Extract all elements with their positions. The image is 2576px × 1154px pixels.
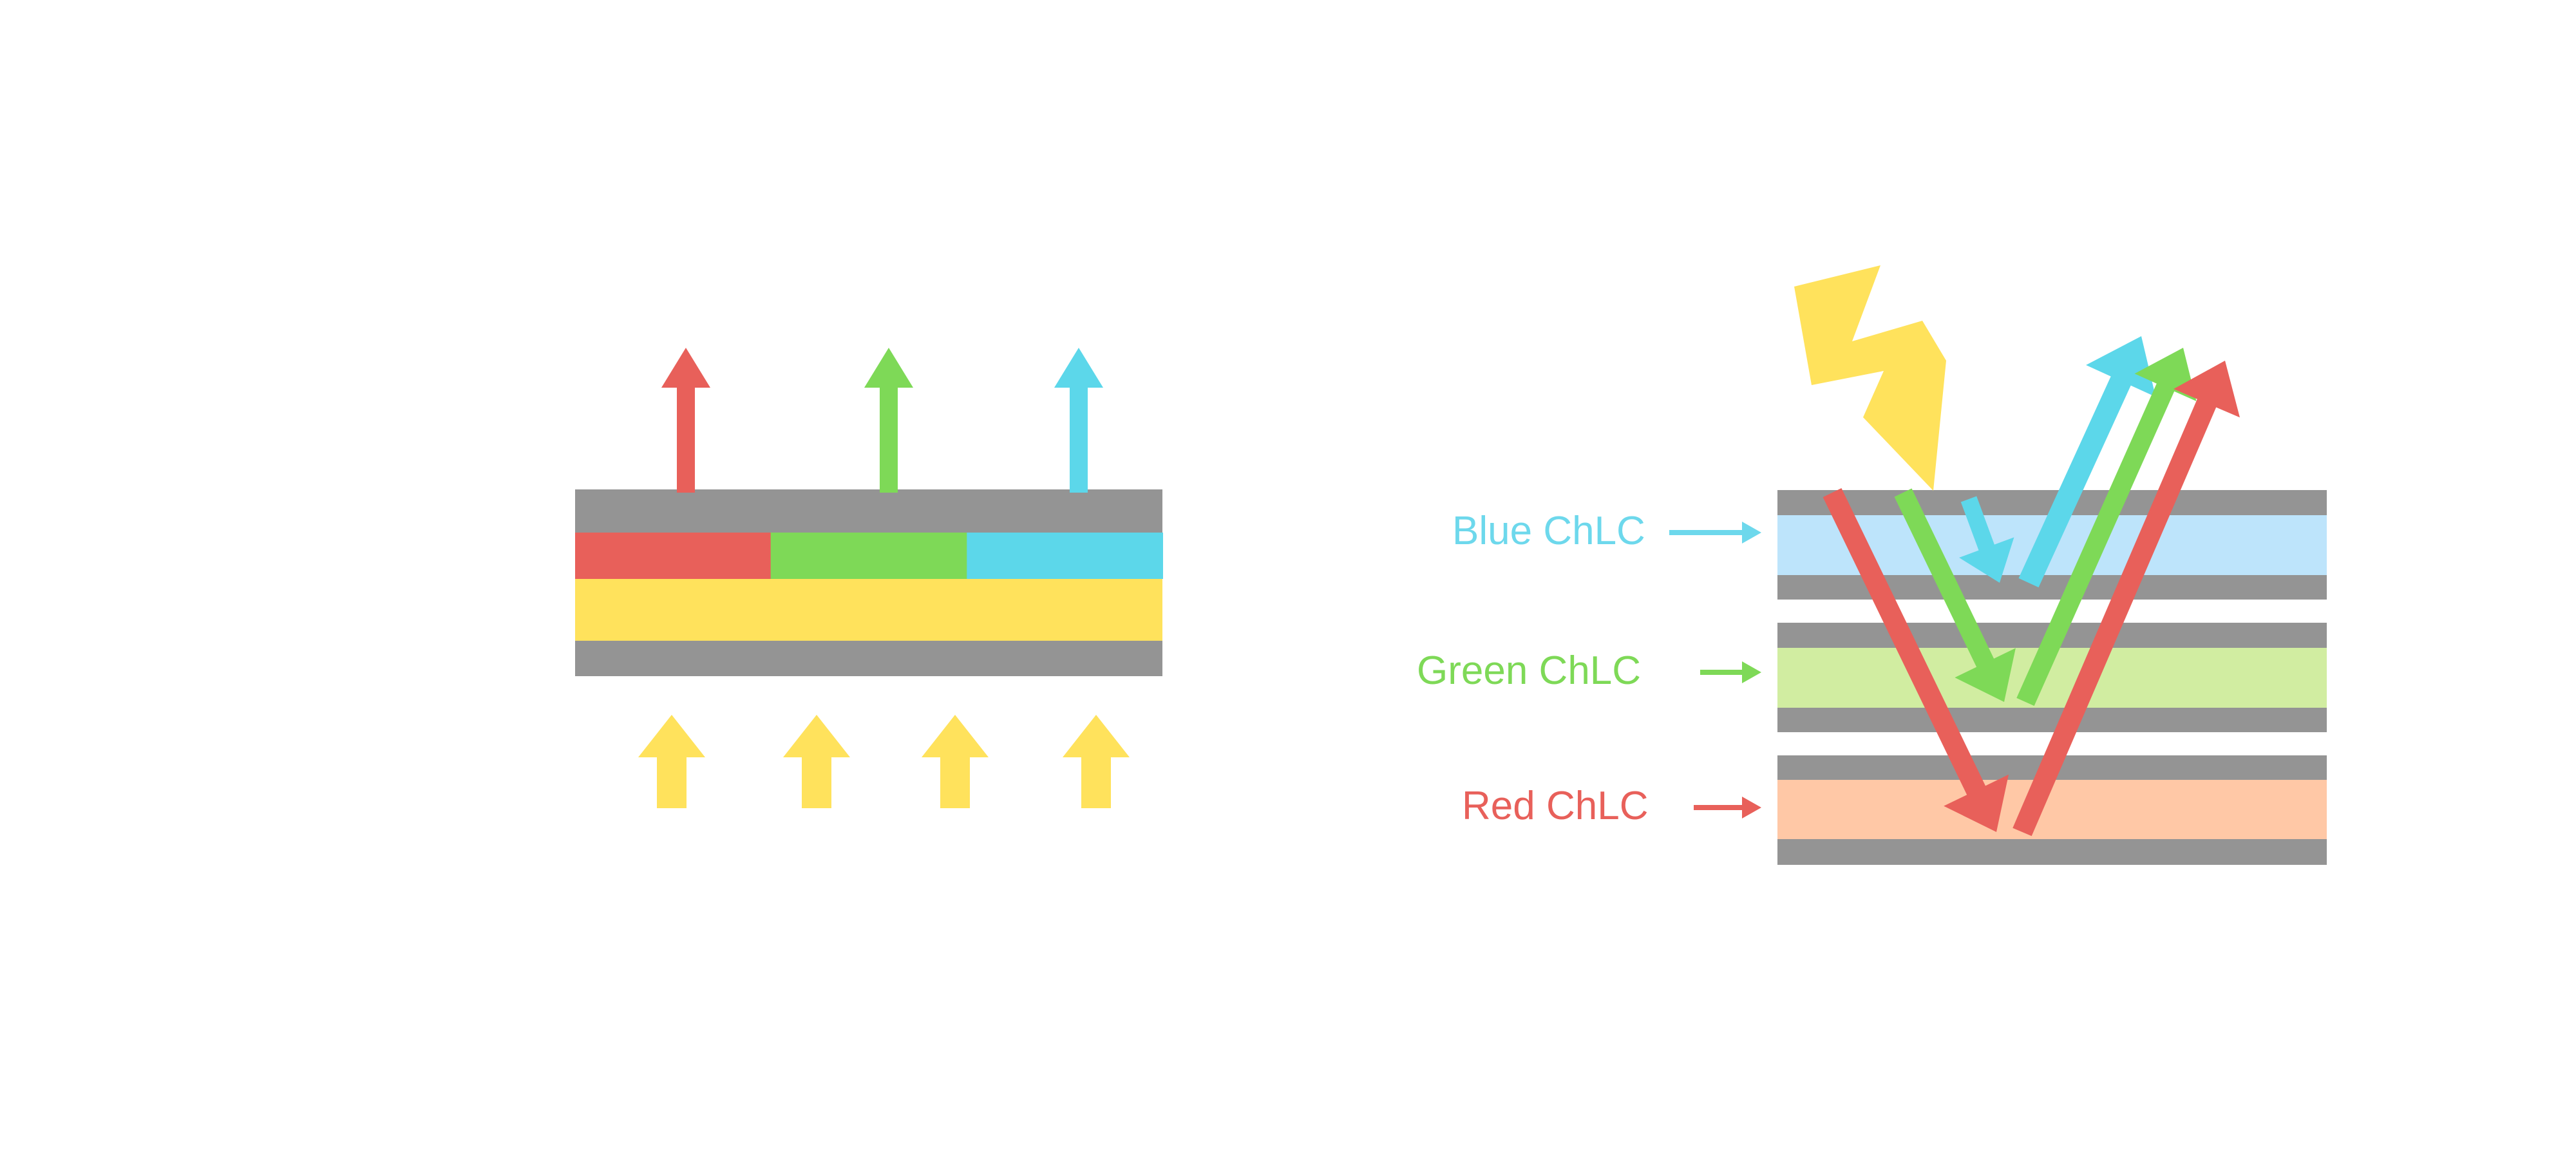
bottom-electrode [575, 641, 1162, 676]
band-gray-4 [1777, 708, 2327, 732]
label-red-chlc-pointer [1694, 797, 1761, 818]
diagram-svg: Blue ChLCGreen ChLCRed ChLC [0, 0, 2576, 1154]
red-emitted-arrow [661, 348, 710, 493]
band-gray-2 [1777, 575, 2327, 600]
top-electrode [575, 489, 1162, 533]
backlight-arrow-4 [1063, 715, 1130, 808]
label-green-chlc: Green ChLC [1417, 648, 1641, 693]
backlight-layer [575, 579, 1162, 641]
label-green-chlc-pointer [1700, 661, 1761, 683]
red-filter [575, 533, 772, 579]
label-blue-chlc: Blue ChLC [1452, 509, 1645, 553]
band-gray-6 [1777, 839, 2327, 865]
green-filter [771, 533, 968, 579]
label-red-chlc: Red ChLC [1462, 784, 1648, 828]
backlight-arrow-2 [783, 715, 850, 808]
backlight-arrow-3 [922, 715, 989, 808]
label-green-chlc-pointer-head [1742, 661, 1761, 683]
band-red-chlc [1777, 780, 2327, 839]
label-blue-chlc-pointer [1669, 522, 1761, 544]
backlight-arrow-1 [638, 715, 705, 808]
cyan-filter [967, 533, 1163, 579]
green-emitted-arrow [864, 348, 913, 493]
label-blue-chlc-pointer-head [1742, 522, 1761, 544]
label-red-chlc-pointer-head [1742, 797, 1761, 818]
figure-canvas: Blue ChLCGreen ChLCRed ChLC [0, 0, 2576, 1154]
cyan-emitted-arrow [1054, 348, 1103, 493]
incident-white-light-arrow [1794, 265, 1946, 491]
